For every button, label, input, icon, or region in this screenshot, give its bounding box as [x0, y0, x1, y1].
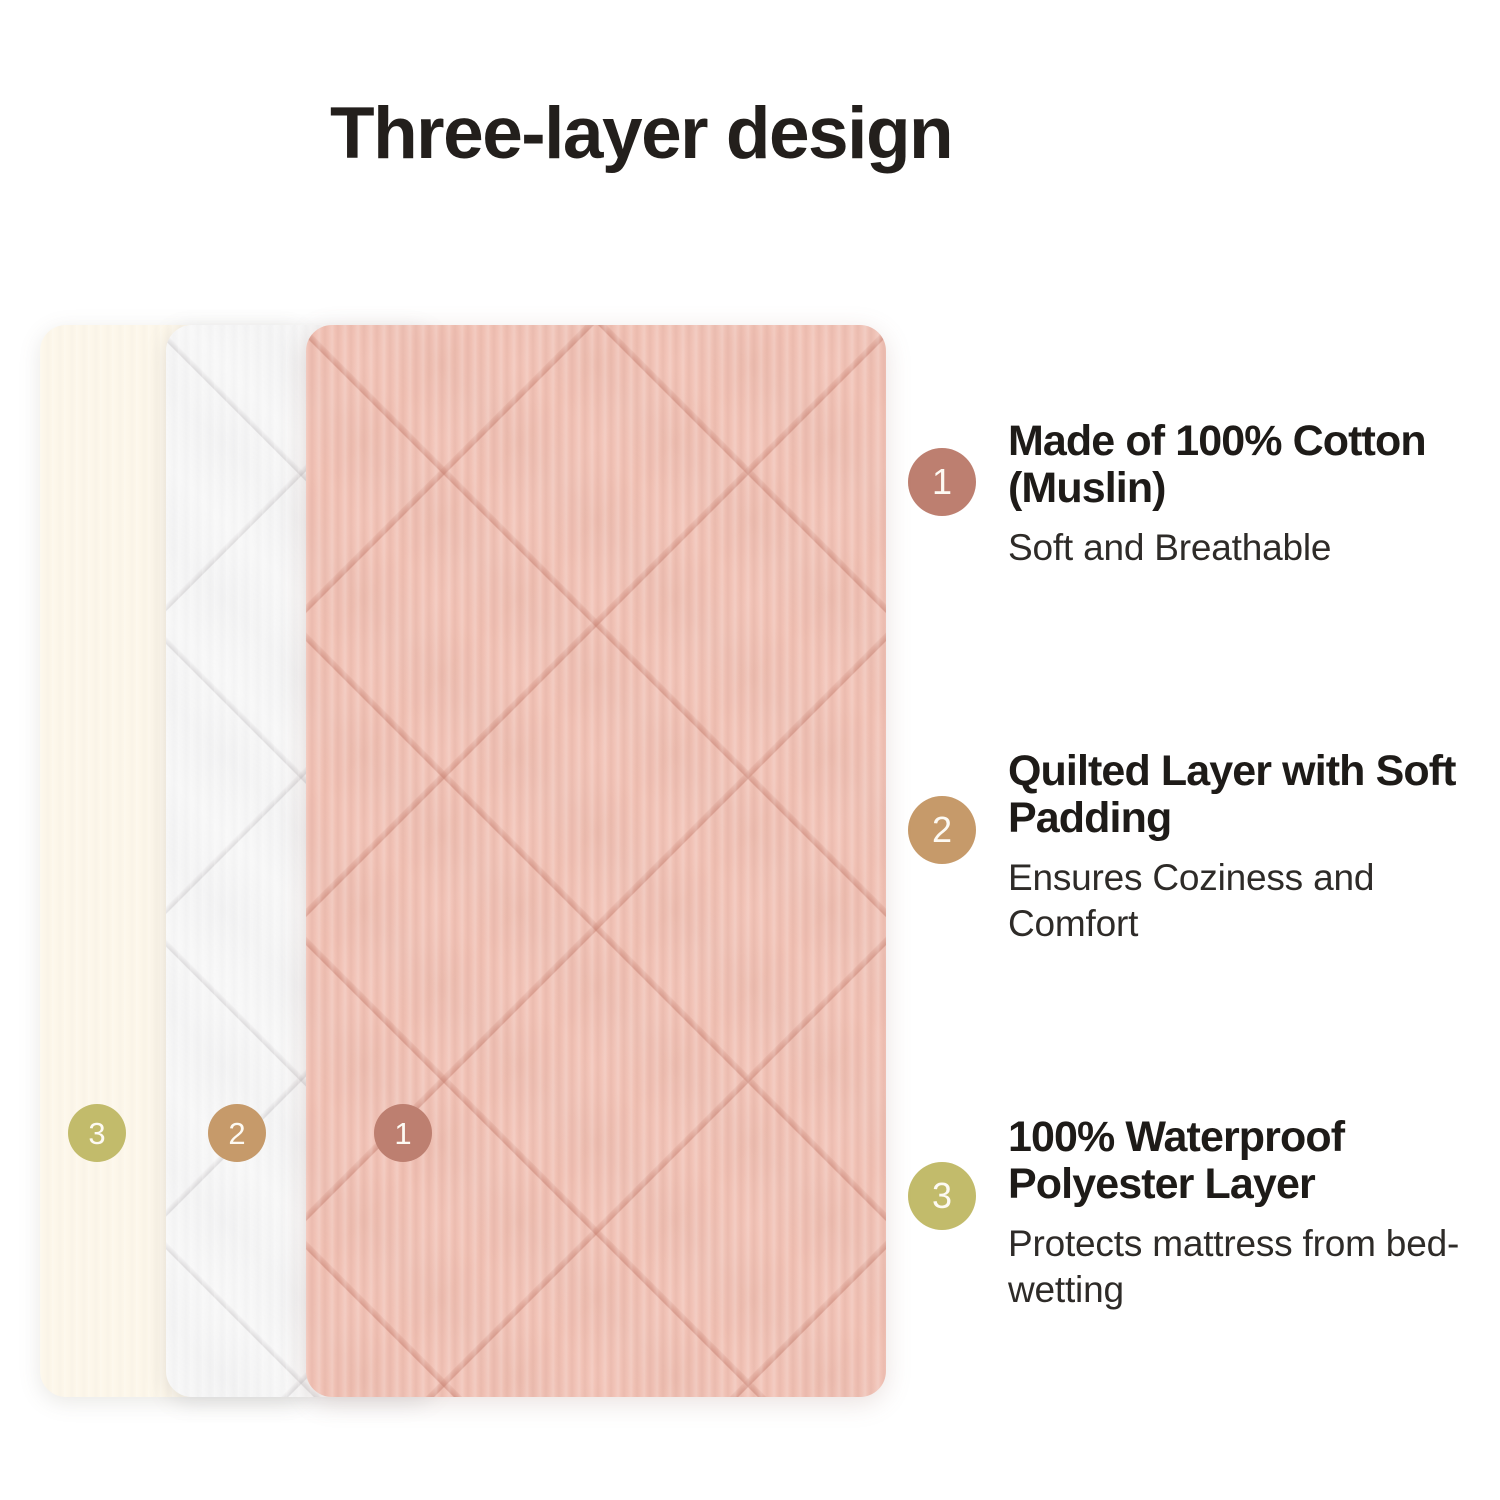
feature-item-2: 2 Quilted Layer with Soft Padding Ensure…	[908, 748, 1480, 947]
feature-item-1: 1 Made of 100% Cotton (Muslin) Soft and …	[908, 418, 1480, 571]
feature-text-1: Made of 100% Cotton (Muslin) Soft and Br…	[1008, 418, 1480, 571]
feature-title-2: Quilted Layer with Soft Padding	[1008, 748, 1480, 842]
feature-badge-2: 2	[908, 796, 976, 864]
feature-text-2: Quilted Layer with Soft Padding Ensures …	[1008, 748, 1480, 947]
infographic-page: Three-layer design 3 2 1 1 Made of 100% …	[0, 0, 1500, 1500]
feature-subtitle-3: Protects mattress from bed-wetting	[1008, 1221, 1480, 1314]
feature-title-3: 100% Waterproof Polyester Layer	[1008, 1114, 1480, 1208]
page-title: Three-layer design	[330, 96, 952, 173]
fabric-layer-cotton-muslin	[306, 325, 886, 1397]
feature-badge-1: 1	[908, 448, 976, 516]
feature-text-3: 100% Waterproof Polyester Layer Protects…	[1008, 1114, 1480, 1313]
feature-subtitle-1: Soft and Breathable	[1008, 525, 1480, 571]
product-layer-stack: 3 2 1	[0, 300, 920, 1440]
stack-badge-1: 1	[374, 1104, 432, 1162]
feature-badge-3: 3	[908, 1162, 976, 1230]
stack-badge-3: 3	[68, 1104, 126, 1162]
stack-badge-2: 2	[208, 1104, 266, 1162]
feature-subtitle-2: Ensures Coziness and Comfort	[1008, 855, 1480, 948]
feature-item-3: 3 100% Waterproof Polyester Layer Protec…	[908, 1114, 1480, 1313]
fabric-texture-pink	[306, 325, 886, 1397]
feature-title-1: Made of 100% Cotton (Muslin)	[1008, 418, 1480, 512]
